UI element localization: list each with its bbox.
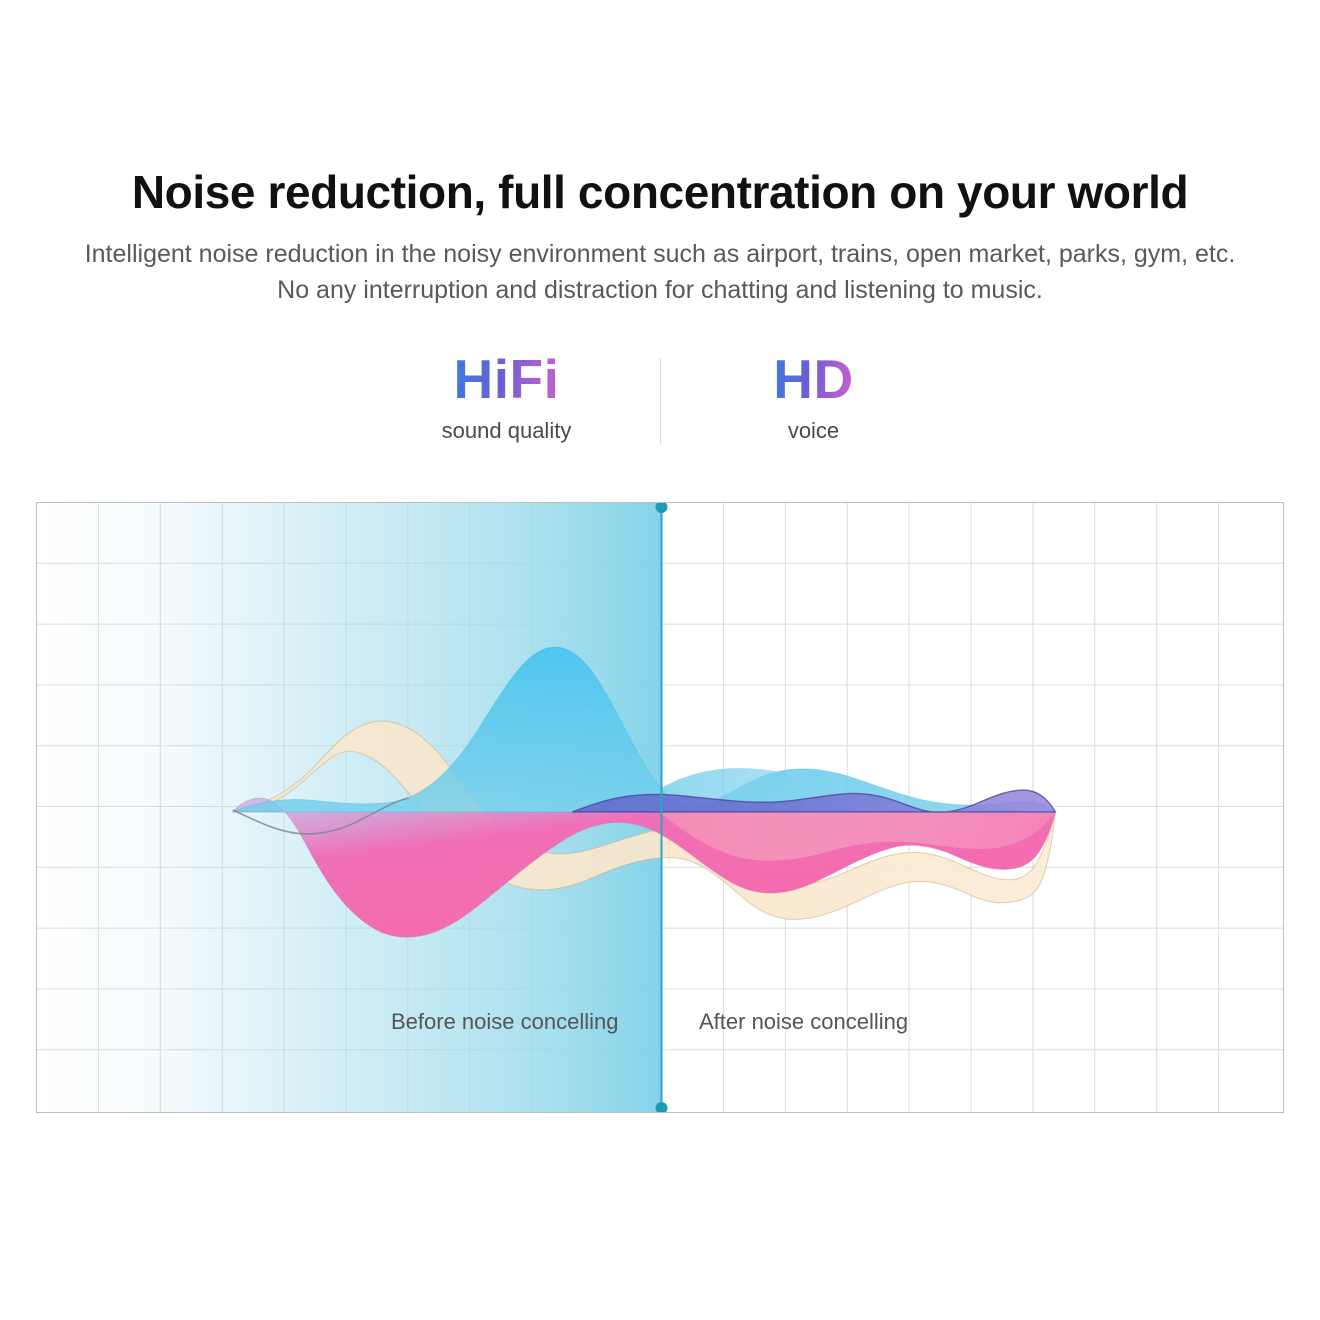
subtitle-line-1: Intelligent noise reduction in the noisy… xyxy=(0,236,1320,272)
badge-hd: HD voice xyxy=(709,352,919,442)
badge-hifi-title: HiFi xyxy=(454,352,560,407)
promo-page: Noise reduction, full concentration on y… xyxy=(0,0,1320,1320)
badge-hd-caption: voice xyxy=(709,420,919,442)
badge-hifi: HiFi sound quality xyxy=(402,352,612,442)
waveform-graphic xyxy=(37,503,1283,1112)
badge-hd-title: HD xyxy=(773,352,853,407)
subtitle-line-2: No any interruption and distraction for … xyxy=(0,272,1320,308)
before-region-label: Before noise concelling xyxy=(391,1011,618,1033)
subtitle-block: Intelligent noise reduction in the noisy… xyxy=(0,236,1320,309)
header-block: Noise reduction, full concentration on y… xyxy=(0,168,1320,308)
badge-hifi-caption: sound quality xyxy=(402,420,612,442)
noise-cancelling-chart: Before noise concelling After noise conc… xyxy=(36,502,1284,1113)
feature-badges: HiFi sound quality HD voice xyxy=(0,352,1320,444)
page-title: Noise reduction, full concentration on y… xyxy=(0,168,1320,218)
badge-divider xyxy=(660,358,661,444)
after-region-label: After noise concelling xyxy=(699,1011,908,1033)
